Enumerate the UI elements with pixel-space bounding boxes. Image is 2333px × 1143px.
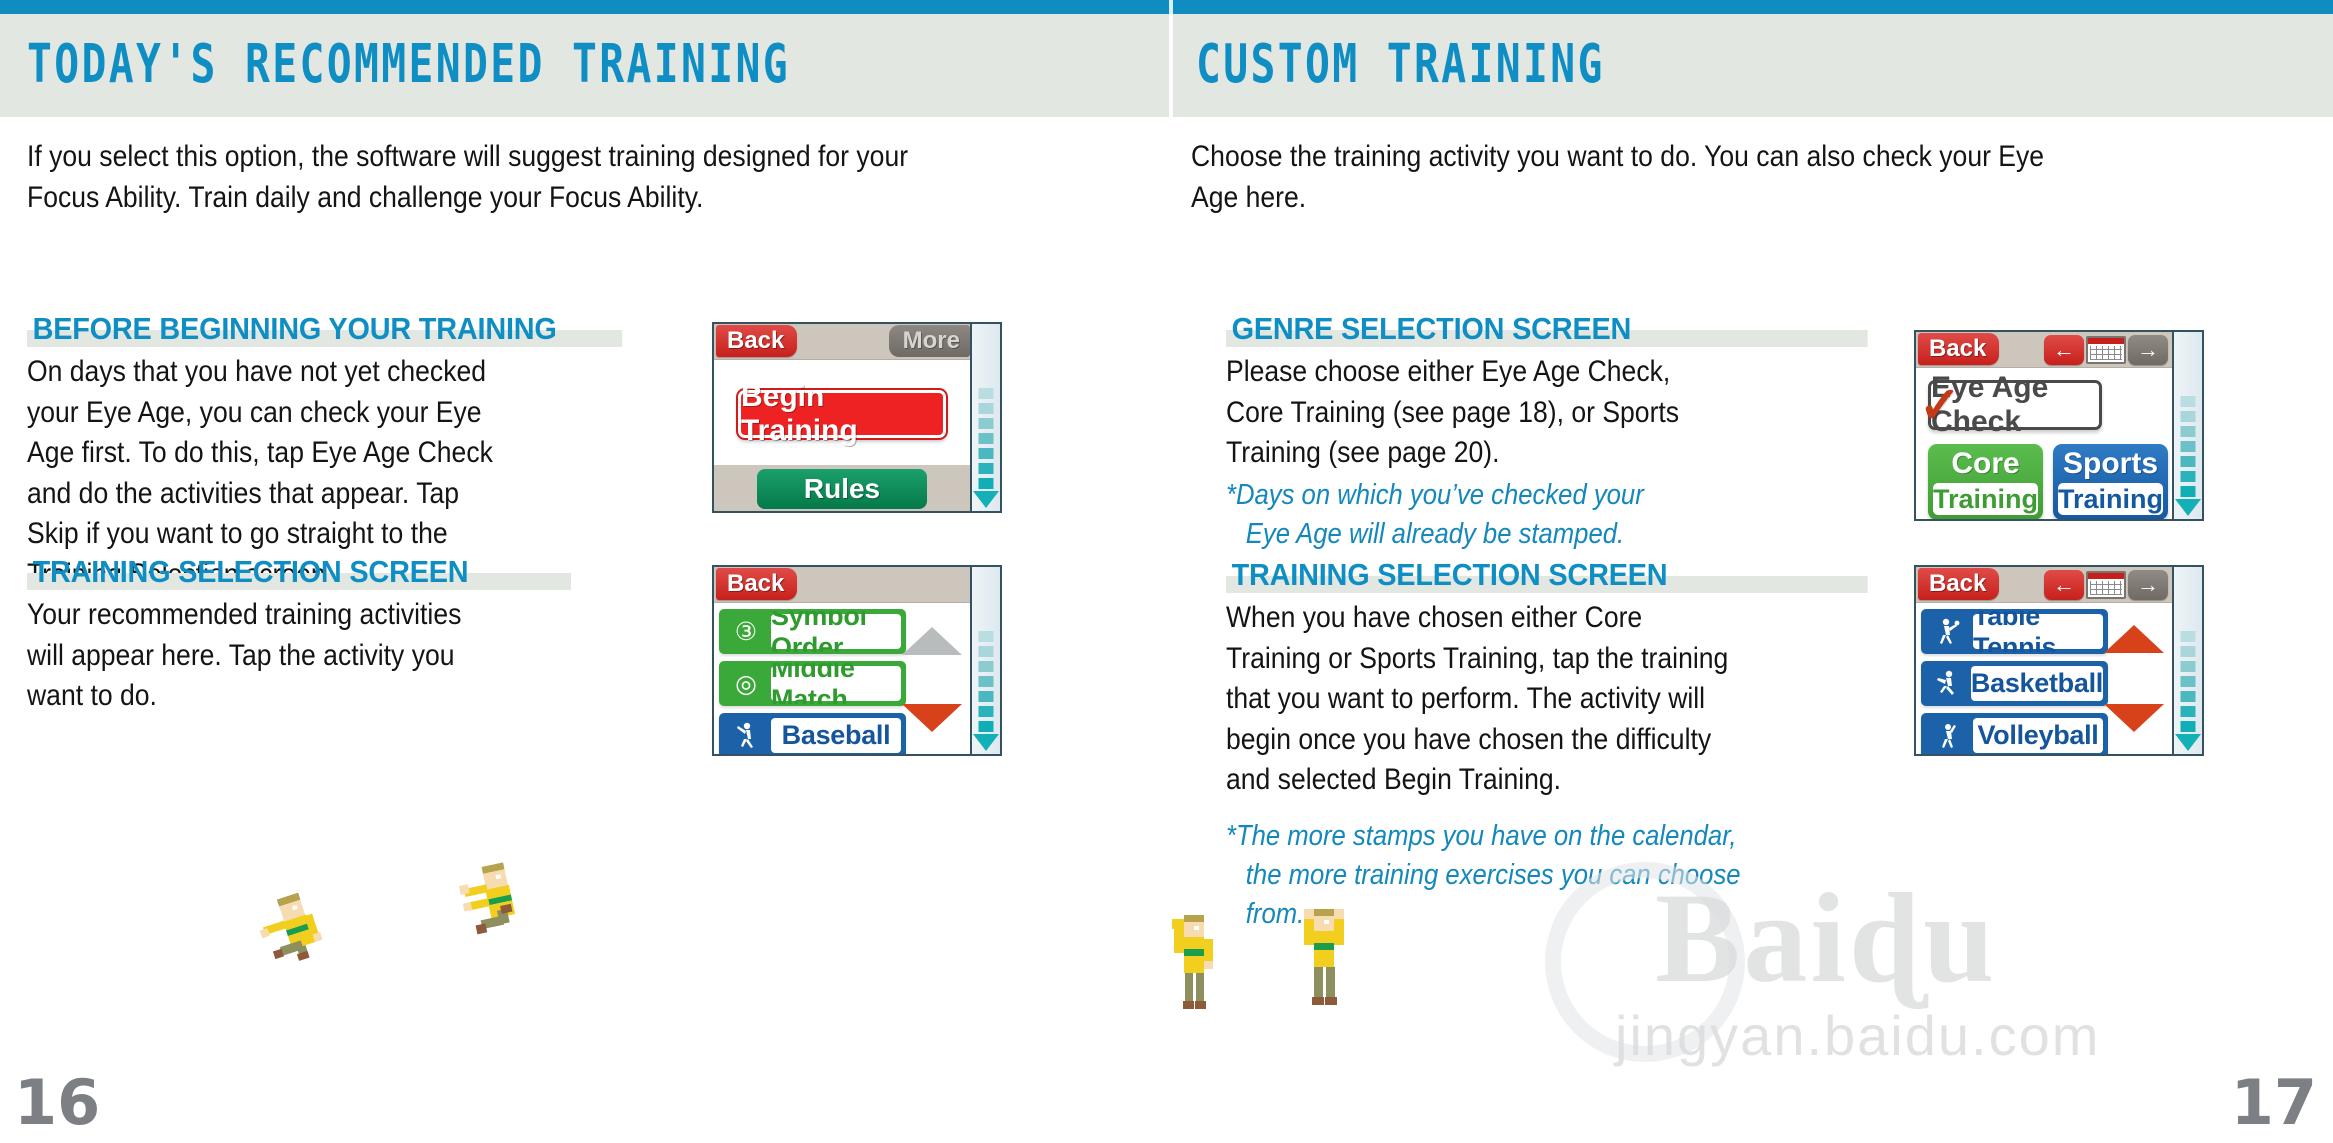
begin-training-topnav: Back More (714, 324, 970, 360)
triangle-up-icon[interactable] (902, 627, 962, 655)
list-item-label: Middle Match (771, 666, 901, 701)
genre-selection-screen-body: Back ← → ✓ Eye Age Check Core Training (1916, 332, 2172, 519)
back-button[interactable]: Back (716, 568, 797, 600)
arrow-right-icon[interactable]: → (2128, 335, 2168, 365)
core-training-line2: Training (1933, 483, 2038, 515)
calendar-icon[interactable] (2086, 336, 2126, 364)
mock-training-selection-screen-right: Back ← → Table Tennis (1914, 565, 2204, 756)
top-accent-bar (0, 0, 2333, 14)
pixel-cheer-character-1 (1158, 905, 1228, 1020)
training-selection-screen-body-left: Back ③ Symbol Order ◎ Middle Match (714, 567, 970, 754)
triangle-down-icon[interactable] (2104, 704, 2164, 732)
scrollbar[interactable] (2172, 567, 2202, 754)
genre-button-group: Core Training Sports Training (1928, 444, 2102, 519)
section-heading-training-selection-left: TRAINING SELECTION SCREEN (27, 554, 478, 592)
section-heading-before-beginning: BEFORE BEGINNING YOUR TRAINING (27, 311, 566, 349)
arrow-right-icon[interactable]: → (2128, 570, 2168, 600)
pixel-runner-character (252, 892, 322, 967)
begin-training-button[interactable]: Begin Training (738, 390, 946, 438)
left-page-title: TODAY'S RECOMMENDED TRAINING (27, 33, 790, 95)
section-training-selection-right: TRAINING SELECTION SCREEN When you have … (1226, 557, 1926, 934)
scroll-down-icon[interactable] (2175, 499, 2201, 516)
triangle-up-icon[interactable] (2104, 625, 2164, 653)
genre-selection-topnav: Back ← → (1916, 332, 2172, 368)
back-button[interactable]: Back (716, 325, 797, 357)
back-button[interactable]: Back (1918, 568, 1999, 600)
scrollbar[interactable] (2172, 332, 2202, 519)
training-selection-topnav-left: Back (714, 567, 970, 603)
baseball-player-icon (721, 715, 771, 754)
table-tennis-icon (1923, 611, 1973, 652)
volleyball-icon (1923, 715, 1973, 754)
scrollbar[interactable] (970, 567, 1000, 754)
training-selection-screen-body-right: Back ← → Table Tennis (1916, 567, 2172, 754)
arrow-left-icon[interactable]: ← (2044, 335, 2084, 365)
list-item[interactable]: Baseball (719, 713, 906, 754)
section-note-genre-selection: *Days on which you’ve checked your Eye A… (1226, 476, 1784, 554)
sports-training-line2: Training (2058, 483, 2163, 515)
scrollbar[interactable] (970, 324, 1000, 511)
note-line-1: *The more stamps you have on the calenda… (1226, 820, 1736, 852)
sports-training-line1: Sports (2058, 448, 2163, 480)
mock-training-selection-screen-left: Back ③ Symbol Order ◎ Middle Match (712, 565, 1002, 756)
core-training-line1: Core (1933, 448, 2038, 480)
left-intro-text: If you select this option, the software … (27, 136, 981, 218)
training-selection-topnav-right: Back ← → (1916, 567, 2172, 603)
calendar-nav-group: ← → (2044, 569, 2168, 600)
left-page: If you select this option, the software … (0, 117, 1169, 1143)
scroll-down-icon[interactable] (973, 491, 999, 508)
list-item[interactable]: Basketball (1921, 661, 2108, 706)
page-number-right: 17 (2231, 1066, 2317, 1139)
right-page-title: CUSTOM TRAINING (1196, 33, 1605, 95)
mock-genre-selection-screen: Back ← → ✓ Eye Age Check Core Training (1914, 330, 2204, 521)
note-line-2: Eye Age will already be stamped. (1226, 515, 1784, 554)
section-training-selection-left: TRAINING SELECTION SCREEN Your recommend… (27, 554, 687, 717)
scroll-down-icon[interactable] (2175, 734, 2201, 751)
list-item[interactable]: ③ Symbol Order (719, 609, 906, 654)
section-body-training-selection-left: Your recommended training activities wil… (27, 595, 495, 717)
section-before-beginning: BEFORE BEGINNING YOUR TRAINING On days t… (27, 311, 687, 595)
pixel-cheer-character-2 (1288, 895, 1358, 1015)
activity-list-left: ③ Symbol Order ◎ Middle Match Baseball (719, 609, 906, 754)
section-heading-genre-selection: GENRE SELECTION SCREEN (1226, 311, 1640, 349)
basketball-icon (1923, 663, 1971, 704)
list-item[interactable]: ◎ Middle Match (719, 661, 906, 706)
calendar-icon[interactable] (2086, 571, 2126, 599)
section-body-training-selection-right: When you have chosen either Core Trainin… (1226, 598, 1730, 801)
page-number-left: 16 (14, 1066, 100, 1139)
pixel-jumper-character (455, 862, 525, 947)
arrow-left-icon[interactable]: ← (2044, 570, 2084, 600)
header-divider (1169, 0, 1173, 117)
triangle-down-icon[interactable] (902, 704, 962, 732)
calendar-nav-group: ← → (2044, 334, 2168, 365)
list-item-label: Symbol Order (771, 614, 901, 649)
note-line-1: *Days on which you’ve checked your (1226, 479, 1644, 511)
begin-training-screen-body: Back More Begin Training Rules (714, 324, 970, 511)
rules-button[interactable]: Rules (757, 469, 927, 509)
list-item-label: Baseball (771, 718, 901, 753)
list-item-label: Table Tennis (1973, 614, 2103, 649)
section-heading-training-selection-right: TRAINING SELECTION SCREEN (1226, 557, 1677, 595)
watermark-ring (1545, 862, 1745, 1062)
red-check-icon: ✓ (1919, 385, 1965, 431)
mock-begin-training-screen: Back More Begin Training Rules (712, 322, 1002, 513)
core-training-button[interactable]: Core Training (1928, 444, 2043, 519)
symbol-order-icon: ③ (721, 611, 771, 652)
list-item[interactable]: Table Tennis (1921, 609, 2108, 654)
list-item[interactable]: Volleyball (1921, 713, 2108, 754)
section-genre-selection: GENRE SELECTION SCREEN Please choose eit… (1226, 311, 1926, 554)
scroll-down-icon[interactable] (973, 734, 999, 751)
list-item-label: Basketball (1971, 666, 2103, 701)
eye-age-check-button[interactable]: ✓ Eye Age Check (1928, 380, 2102, 430)
activity-list-right: Table Tennis Basketball Volleyball (1921, 609, 2108, 754)
more-button[interactable]: More (889, 325, 970, 357)
manual-spread: TODAY'S RECOMMENDED TRAINING CUSTOM TRAI… (0, 0, 2333, 1143)
middle-match-icon: ◎ (721, 663, 771, 704)
right-intro-text: Choose the training activity you want to… (1191, 136, 2073, 218)
back-button[interactable]: Back (1918, 333, 1999, 365)
sports-training-button[interactable]: Sports Training (2053, 444, 2168, 519)
list-item-label: Volleyball (1973, 718, 2103, 753)
section-body-genre-selection: Please choose either Eye Age Check, Core… (1226, 352, 1694, 474)
